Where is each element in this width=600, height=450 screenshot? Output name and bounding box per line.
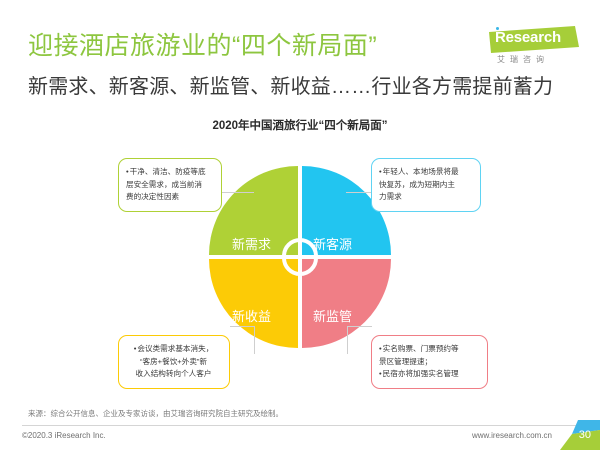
logo-chinese-name: 艾瑞咨询	[497, 54, 549, 65]
page-subtitle: 新需求、新客源、新监管、新收益……行业各方需提前蓄力	[28, 70, 553, 99]
page-title: 迎接酒店旅游业的“四个新局面”	[28, 26, 377, 62]
callout-line: 干净、清洁、防疫等底	[126, 166, 213, 179]
recycle-arrows-icon	[278, 235, 322, 279]
connector-bottom-right	[347, 326, 372, 327]
footer-divider	[22, 425, 578, 426]
connector-bottom-left	[230, 326, 254, 327]
quadrant-label-new-demand: 新需求	[232, 234, 271, 253]
logo-i-dot-icon	[496, 27, 499, 30]
website-url: www.iresearch.com.cn	[472, 431, 552, 440]
callout-line: 实名购票、门票预约等	[379, 343, 479, 356]
connector-bottom-right-stem	[347, 326, 348, 354]
quadrant-diagram: 新需求 新客源 新收益 新监管 干净、清洁、防疫等底 层安全需求，成当前消 费的…	[0, 150, 600, 405]
callout-line: “客房+餐饮+外卖”新	[126, 356, 221, 369]
callout-line: 会议类需求基本消失，	[126, 343, 221, 356]
callout-new-revenue: 会议类需求基本消失， “客房+餐饮+外卖”新 收入结构转向个人客户	[118, 335, 230, 389]
callout-new-customers: 年轻人、本地场景将最 快复苏，成为短期内主 力需求	[371, 158, 481, 212]
chart-title: 2020年中国酒旅行业“四个新局面”	[0, 117, 600, 133]
connector-bottom-left-stem	[254, 326, 255, 354]
callout-new-demand: 干净、清洁、防疫等底 层安全需求，成当前消 费的决定性因素	[118, 158, 222, 212]
callout-line: 力需求	[379, 191, 472, 204]
logo-wordmark: Research	[495, 29, 561, 46]
callout-line: 景区管理提速；	[379, 356, 479, 369]
connector-top-right	[346, 192, 372, 193]
corner-graphic-icon	[552, 420, 600, 450]
callout-line: 层安全需求，成当前消	[126, 179, 213, 192]
quadrant-label-new-revenue: 新收益	[232, 306, 271, 325]
copyright-text: ©2020.3 iResearch Inc.	[22, 431, 106, 440]
callout-line: 收入结构转向个人客户	[126, 368, 221, 381]
callout-new-regulation: 实名购票、门票预约等 景区管理提速； 民宿亦将加强实名管理	[371, 335, 488, 389]
callout-line: 费的决定性因素	[126, 191, 213, 204]
callout-line: 快复苏，成为短期内主	[379, 179, 472, 192]
iresearch-logo: Research 艾瑞咨询	[487, 26, 579, 68]
callout-line: 年轻人、本地场景将最	[379, 166, 472, 179]
page-header: 迎接酒店旅游业的“四个新局面” 新需求、新客源、新监管、新收益……行业各方需提前…	[0, 0, 600, 108]
callout-line: 民宿亦将加强实名管理	[379, 368, 479, 381]
quadrant-label-new-regulation: 新监管	[313, 306, 352, 325]
connector-top-left	[222, 192, 254, 193]
source-note: 来源：综合公开信息、企业及专家访谈，由艾瑞咨询研究院自主研究及绘制。	[28, 408, 283, 419]
page-number: 30	[579, 429, 591, 441]
